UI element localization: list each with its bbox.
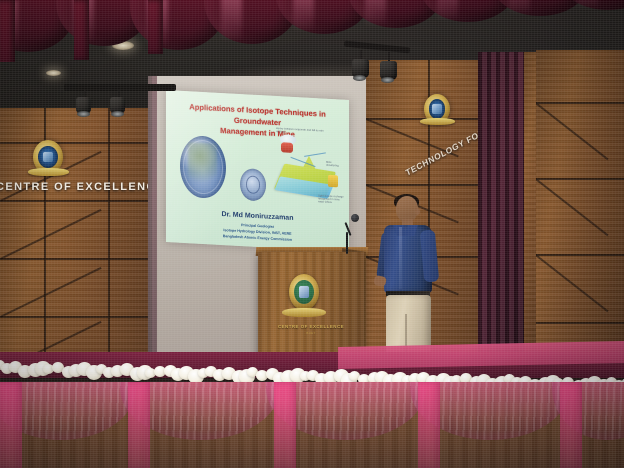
organisation-seal-icon [240, 168, 266, 201]
pink-drop-panel [0, 382, 22, 468]
wall-panel-left [0, 108, 152, 360]
stage-spotlight [76, 97, 91, 114]
diagram-label-bottom: Light isotope recharge recognised in min… [318, 194, 344, 205]
wall-panel-lines [536, 50, 624, 362]
emblem-ribbon [420, 118, 455, 125]
side-curtain [478, 52, 524, 364]
stage-spotlight [380, 61, 397, 80]
rain-source-icon [281, 142, 293, 153]
curtain-tail [148, 0, 163, 54]
podium-emblem-ribbon [282, 308, 326, 317]
wall-panel-lines [0, 108, 152, 360]
podium-emblem-icon [289, 274, 319, 310]
microphone-head-icon [351, 214, 359, 222]
pink-drop-panel [128, 382, 150, 468]
pink-drop-panel [560, 382, 582, 468]
stage-spotlight [110, 97, 125, 114]
pink-drop-panel [418, 382, 440, 468]
ear [415, 208, 420, 215]
podium-caption: CENTRE OF EXCELLENCE [270, 324, 352, 329]
downlight-icon [46, 70, 61, 76]
curtain-tail [0, 0, 15, 62]
side-curtain-edge [148, 76, 157, 360]
slide-title-line1: Applications of Isotope Techniques in Gr… [189, 102, 326, 127]
light-bar-left [64, 84, 176, 91]
pink-drop-panel [274, 382, 296, 468]
projection-screen: Applications of Isotope Techniques in Gr… [166, 90, 349, 252]
pump-icon [328, 175, 338, 188]
affiliation-line-3: Bangladesh Atomic Energy Commission [223, 234, 292, 242]
speaker-person [378, 196, 440, 368]
emblem-ribbon [28, 168, 69, 176]
auditorium-photo: CENTRE OF EXCELLENCE Applications of Iso… [0, 0, 624, 468]
diagram-label-mid: Mine dewatering [326, 161, 344, 168]
stage-drape [0, 382, 624, 468]
arm-right [420, 229, 439, 282]
podium-subcaption: BUET [270, 331, 352, 335]
stage-spotlight [352, 59, 369, 78]
wall-panel-far-right [536, 50, 624, 362]
podium-emblem-inner [294, 280, 314, 305]
hydrology-diagram: Heavy isotopes evaporate and fall as rai… [274, 132, 344, 208]
emblem-inner [429, 99, 446, 118]
shirt-placket [399, 227, 402, 289]
affiliation-line-1: Principal Geologist [241, 223, 274, 229]
wall-sign-left: CENTRE OF EXCELLENCE [0, 181, 165, 193]
emblem-inner [38, 146, 57, 168]
curtain-tail [74, 0, 89, 60]
globe-illustration-icon [180, 135, 226, 199]
microphone-stem [346, 232, 348, 254]
